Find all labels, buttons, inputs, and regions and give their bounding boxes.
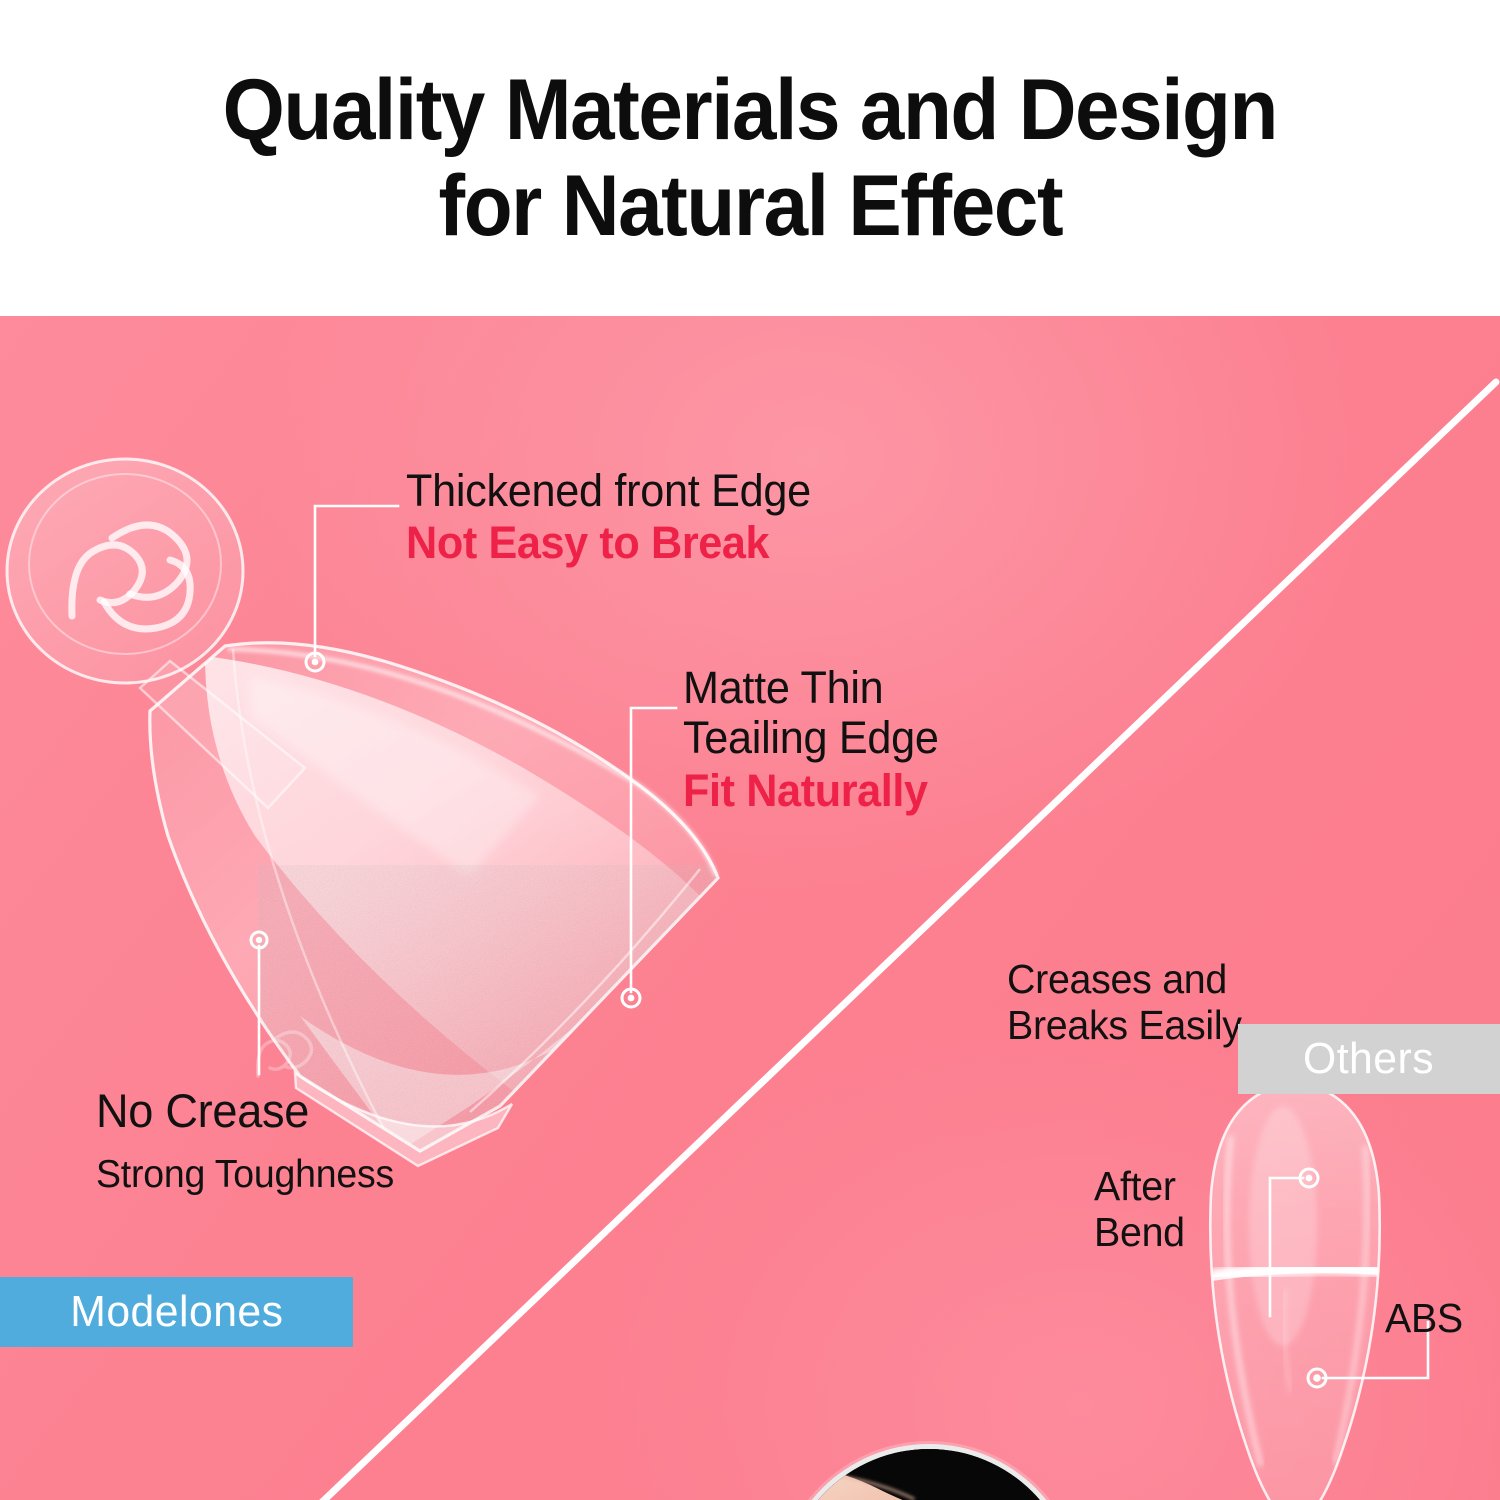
- callout-no-crease-main: No Crease: [96, 1085, 394, 1138]
- callout-thickened-front-edge: Thickened front Edge Not Easy to Break: [406, 466, 828, 569]
- page-header: Quality Materials and Design for Natural…: [0, 0, 1500, 316]
- callout-no-crease-sub: Strong Toughness: [96, 1152, 394, 1199]
- callout-matte-thin-edge: Matte Thin Teailing Edge Fit Naturally: [683, 663, 949, 817]
- callout-after-bend: After Bend: [1094, 1164, 1189, 1256]
- after-bend-photo: [778, 1444, 1080, 1500]
- badge-others-label: Others: [1303, 1034, 1434, 1084]
- callout-thickened-accent: Not Easy to Break: [406, 516, 811, 569]
- abs-nail-tip-illustration: [1175, 1076, 1415, 1500]
- callout-matte-main: Matte Thin Teailing Edge: [683, 663, 939, 764]
- callout-thickened-main: Thickened front Edge: [406, 466, 811, 516]
- callout-abs-main: ABS: [1385, 1296, 1463, 1342]
- callout-creases-breaks-main: Creases and Breaks Easily: [1007, 957, 1242, 1049]
- badge-modelones-label: Modelones: [70, 1287, 283, 1337]
- callout-creases-and-breaks: Creases and Breaks Easily: [1007, 957, 1251, 1049]
- page-title-line-2: for Natural Effect: [438, 158, 1062, 254]
- callout-no-crease: No Crease Strong Toughness: [96, 1085, 406, 1198]
- badge-others: Others: [1238, 1024, 1500, 1094]
- page-title-line-1: Quality Materials and Design: [223, 62, 1277, 158]
- abs-nail-tip-svg: [1175, 1076, 1415, 1500]
- callout-abs-material: ABS: [1385, 1296, 1466, 1342]
- callout-after-bend-main: After Bend: [1094, 1164, 1185, 1256]
- callout-matte-accent: Fit Naturally: [683, 764, 939, 817]
- infographic-page: Quality Materials and Design for Natural…: [0, 0, 1500, 1500]
- badge-modelones: Modelones: [0, 1277, 353, 1347]
- bend-demo-photo-svg: [783, 1449, 1075, 1500]
